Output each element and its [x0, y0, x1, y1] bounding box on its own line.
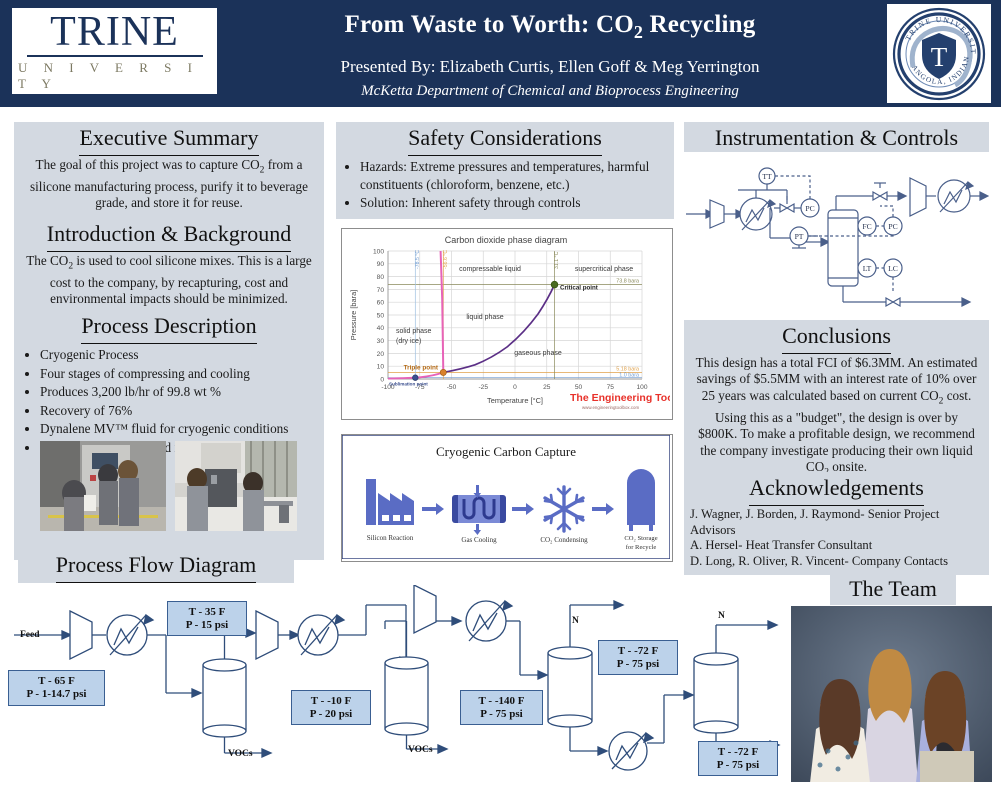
figure-co2-phase-diagram: Carbon dioxide phase diagram 1009080	[341, 228, 673, 420]
chart-ref-label-738: 73.8 bara	[616, 278, 639, 284]
panel-safety: Safety Considerations Hazards: Extreme p…	[336, 122, 674, 219]
cryo-title: Cryogenic Carbon Capture	[436, 444, 576, 459]
cryo-step-label-4b: for Recycle	[626, 544, 657, 551]
svg-text:80: 80	[377, 274, 385, 281]
pid-tag-lc: LC	[888, 264, 898, 273]
acknowledgement-line: J. Wagner, J. Borden, J. Raymond- Senior…	[690, 507, 983, 538]
figure-process-flow-diagram: Feed VOCs VOCs N N Product CO2	[0, 585, 790, 787]
team-heading: The Team	[849, 573, 937, 607]
panel-executive-summary: Executive Summary The goal of this proje…	[14, 122, 324, 219]
co2-phase-diagram-chart: Carbon dioxide phase diagram 1009080	[342, 229, 670, 417]
pfd-box-1: T - 65 F P - 1-14.7 psi	[8, 670, 105, 706]
cryo-step-label-3: CO₂ Condensing	[540, 536, 588, 544]
acknowledgement-line: D. Long, R. Oliver, R. Vincent- Company …	[690, 554, 983, 570]
pfd-label-n-1: N	[572, 616, 579, 626]
svg-text:T: T	[931, 42, 948, 72]
svg-text:75: 75	[607, 384, 615, 391]
list-item: Recovery of 76%	[40, 402, 318, 420]
instrumentation-heading: Instrumentation & Controls	[715, 122, 958, 156]
svg-text:100: 100	[636, 384, 647, 391]
acknowledgements-heading: Acknowledgements	[749, 472, 924, 506]
chart-point-triple	[440, 369, 446, 375]
page-title-subscript: 2	[634, 22, 643, 42]
chart-vlabel-311: 31.1 °C	[554, 251, 560, 269]
chart-vlabel-785: -78.5 °C	[415, 250, 421, 269]
chart-vlabel-566: -56.6 °C	[443, 250, 449, 269]
pid-schematic: TT PC PT FC PC LT LC	[684, 152, 989, 312]
list-item: Dynalene MV™ fluid for cryogenic conditi…	[40, 420, 318, 438]
authors-line: Presented By: Elizabeth Curtis, Ellen Go…	[220, 56, 880, 78]
page-title: From Waste to Worth: CO2 Recycling	[220, 10, 880, 47]
svg-text:0: 0	[380, 376, 384, 383]
panel-conclusions: Conclusions This design has a total FCI …	[684, 320, 989, 488]
introduction-heading: Introduction & Background	[47, 218, 291, 252]
list-item: Cryogenic Process	[40, 346, 318, 364]
svg-text:20: 20	[377, 351, 385, 358]
page-title-part2: Recycling	[643, 11, 755, 38]
executive-summary-heading: Executive Summary	[79, 122, 258, 156]
acknowledgement-line: A. Hersel- Heat Transfer Consultant	[690, 538, 983, 554]
conclusions-heading: Conclusions	[782, 320, 891, 354]
svg-text:solid phase: solid phase	[396, 328, 432, 335]
trine-seal: T TRINE UNIVERSITY ANGOLA, INDIANA	[887, 4, 991, 103]
trine-logo-subtext: U N I V E R S I T Y	[12, 60, 217, 92]
executive-summary-body: The goal of this project was to capture …	[14, 156, 324, 219]
pfd-label-n-2: N	[718, 611, 725, 621]
pfd-heading: Process Flow Diagram	[56, 549, 256, 583]
poster-canvas: TRINE U N I V E R S I T Y From Waste to …	[0, 0, 1001, 787]
svg-text:liquid phase: liquid phase	[466, 314, 503, 321]
chart-y-axis-label: Pressure [bara]	[349, 290, 358, 341]
svg-text:-25: -25	[478, 384, 488, 391]
chart-title: Carbon dioxide phase diagram	[445, 235, 568, 245]
safety-heading: Safety Considerations	[408, 122, 602, 156]
svg-text:10: 10	[377, 364, 385, 371]
photo-plant-control-room	[40, 441, 166, 531]
svg-text:90: 90	[377, 261, 385, 268]
pfd-box-5: T - -72 F P - 75 psi	[598, 640, 678, 675]
pfd-box-2-temp: T - 35 F	[189, 606, 226, 619]
pfd-box-3: T - -10 F P - 20 psi	[291, 690, 371, 725]
pfd-box-5-temp: T - -72 F	[618, 645, 658, 658]
chart-point-sublimation	[413, 375, 419, 381]
svg-text:(dry ice): (dry ice)	[396, 338, 421, 345]
svg-text:-50: -50	[447, 384, 457, 391]
introduction-body: The CO2 is used to cool silicone mixes. …	[14, 252, 324, 315]
page-title-part1: From Waste to Worth: CO	[345, 11, 634, 38]
pfd-box-5-pressure: P - 75 psi	[617, 658, 659, 671]
svg-text:0: 0	[513, 384, 517, 391]
pfd-box-1-pressure: P - 1-14.7 psi	[27, 688, 87, 701]
svg-text:100: 100	[373, 248, 384, 255]
panel-acknowledgements: Acknowledgements J. Wagner, J. Borden, J…	[684, 472, 989, 575]
svg-text:30: 30	[377, 338, 385, 345]
pfd-box-3-temp: T - -10 F	[311, 695, 351, 708]
svg-text:compressable liquid: compressable liquid	[459, 266, 521, 273]
pfd-box-2: T - 35 F P - 15 psi	[167, 601, 247, 636]
trine-seal-icon: T TRINE UNIVERSITY ANGOLA, INDIANA	[891, 7, 987, 101]
poster-header: TRINE U N I V E R S I T Y From Waste to …	[0, 0, 1001, 107]
chart-point-critical	[551, 281, 558, 288]
pfd-box-6: T - -72 F P - 75 psi	[698, 741, 778, 776]
pfd-box-6-temp: T - -72 F	[718, 746, 758, 759]
chart-annotation-sublimation: Sublimation point	[389, 382, 428, 387]
pfd-box-2-pressure: P - 15 psi	[186, 619, 228, 632]
list-item: Hazards: Extreme pressures and temperatu…	[360, 158, 664, 193]
chart-annotation-critical: Critical point	[560, 285, 598, 292]
pid-tag-fc: FC	[862, 222, 871, 231]
pfd-box-1-temp: T - 65 F	[38, 675, 75, 688]
panel-introduction: Introduction & Background The CO2 is use…	[14, 218, 324, 315]
chart-x-axis-label: Temperature [°C]	[487, 396, 543, 405]
process-description-heading: Process Description	[81, 310, 256, 344]
cryo-step-label-2: Gas Cooling	[461, 536, 497, 544]
panel-instrumentation: Instrumentation & Controls	[684, 122, 989, 156]
pid-tag-pc-2: PC	[888, 222, 897, 231]
pfd-box-4: T - -140 F P - 75 psi	[460, 690, 543, 725]
svg-text:40: 40	[377, 325, 385, 332]
list-item: Solution: Inherent safety through contro…	[360, 194, 664, 212]
pfd-label-vocs-2: VOCs	[408, 745, 433, 755]
svg-text:50: 50	[377, 312, 385, 319]
figure-pid-diagram: TT PC PT FC PC LT LC	[684, 152, 989, 312]
chart-watermark-url: www.engineeringtoolbox.com	[582, 405, 639, 410]
pid-tag-pc-1: PC	[805, 204, 814, 213]
svg-text:70: 70	[377, 287, 385, 294]
pid-tag-tt: TT	[762, 172, 772, 181]
conclusions-body: This design has a total FCI of $6.3MM. A…	[684, 354, 989, 488]
cryogenic-capture-diagram: Cryogenic Carbon Capture Silicon Reactio…	[342, 435, 670, 559]
cryo-step-label-1: Silicon Reaction	[367, 534, 414, 542]
pfd-box-3-pressure: P - 20 psi	[310, 708, 352, 721]
svg-text:25: 25	[543, 384, 551, 391]
storage-tank-icon	[627, 469, 655, 531]
department-line: McKetta Department of Chemical and Biopr…	[220, 81, 880, 101]
list-item: Four stages of compressing and cooling	[40, 365, 318, 383]
cryo-step-label-4a: CO₂ Storage	[624, 535, 657, 542]
svg-text:gaseous phase: gaseous phase	[514, 350, 562, 357]
panel-process-flow-diagram: Process Flow Diagram	[18, 549, 294, 583]
trine-logo-wordmark: TRINE	[48, 11, 181, 53]
acknowledgements-list: J. Wagner, J. Borden, J. Raymond- Senior…	[684, 506, 989, 575]
svg-text:50: 50	[575, 384, 583, 391]
figure-cryogenic-carbon-capture: Cryogenic Carbon Capture Silicon Reactio…	[341, 434, 673, 562]
pfd-box-4-pressure: P - 75 psi	[480, 708, 522, 721]
pid-tag-pt: PT	[795, 232, 804, 241]
chart-ref-label-10: 1.0 bara	[619, 373, 639, 379]
pfd-schematic: Feed VOCs VOCs N N Product CO2	[0, 585, 790, 787]
safety-list: Hazards: Extreme pressures and temperatu…	[336, 156, 674, 219]
svg-text:60: 60	[377, 300, 385, 307]
panel-team: The Team	[830, 573, 956, 607]
trine-logo-rule	[27, 55, 203, 57]
svg-text:supercritical phase: supercritical phase	[575, 266, 633, 273]
pfd-label-feed: Feed	[20, 630, 40, 640]
pfd-box-4-temp: T - -140 F	[479, 695, 525, 708]
photo-outdoor-equipment	[175, 441, 297, 531]
list-item: Produces 3,200 lb/hr of 99.8 wt %	[40, 383, 318, 401]
pfd-box-6-pressure: P - 75 psi	[717, 759, 759, 772]
trine-logo: TRINE U N I V E R S I T Y	[12, 8, 217, 94]
title-block: From Waste to Worth: CO2 Recycling Prese…	[220, 4, 880, 101]
photo-team	[790, 605, 993, 783]
chart-annotation-triple: Triple point	[404, 365, 439, 372]
chart-watermark: The Engineering ToolBox	[570, 392, 670, 404]
pfd-label-vocs-1: VOCs	[228, 749, 253, 759]
pid-tag-lt: LT	[863, 264, 872, 273]
